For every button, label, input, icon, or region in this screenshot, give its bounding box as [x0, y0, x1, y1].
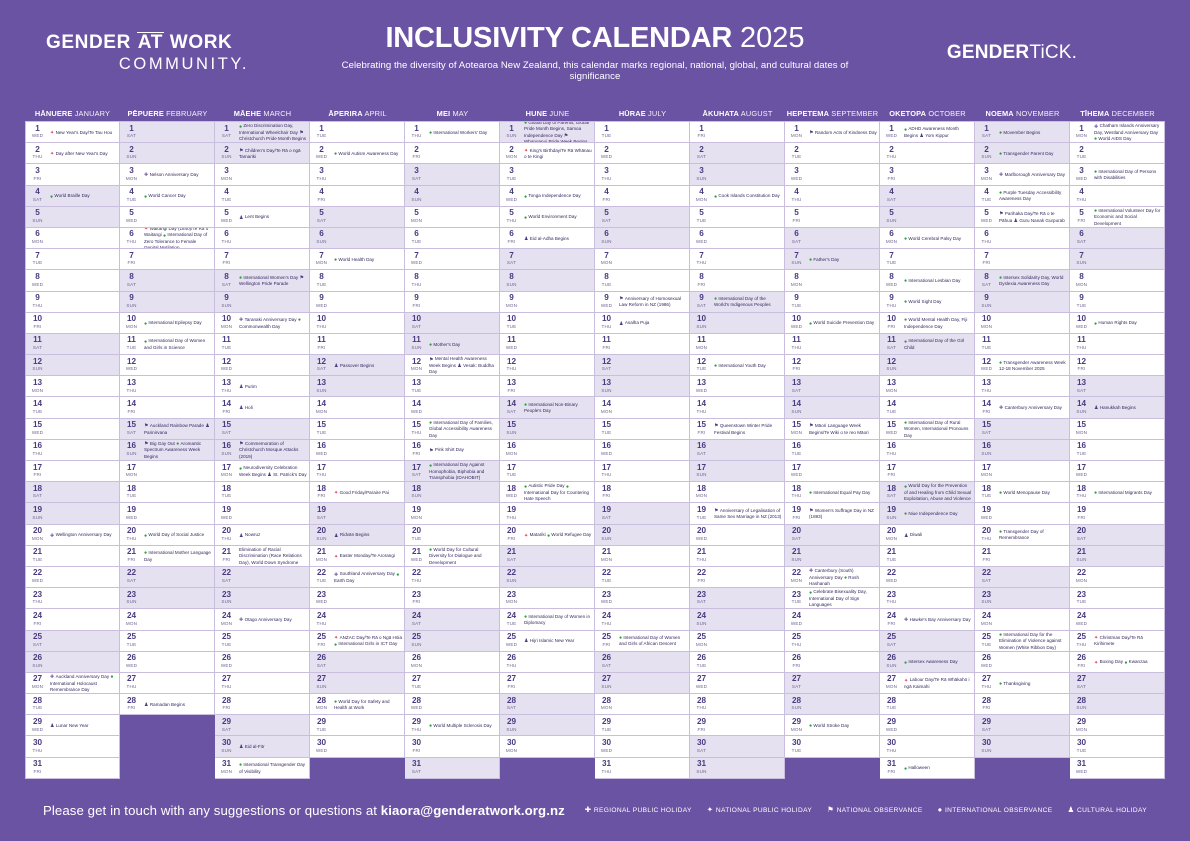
day-cell[interactable]: 22TUE	[595, 567, 690, 588]
day-cell[interactable]: 24WED	[785, 609, 880, 630]
day-cell[interactable]: 26WED	[975, 652, 1070, 673]
day-cell[interactable]: 9THU●World Sight Day	[880, 292, 975, 313]
day-cell[interactable]: 22SAT	[120, 567, 215, 588]
day-cell[interactable]: 6MON	[25, 228, 120, 249]
day-cell[interactable]: 18THU●International Migrants Day	[1070, 482, 1165, 503]
day-cell[interactable]: 21SUN	[785, 546, 880, 567]
day-cell[interactable]: 11TUE	[975, 334, 1070, 355]
day-cell[interactable]: 11FRI	[595, 334, 690, 355]
day-cell[interactable]: 17MON	[975, 461, 1070, 482]
day-cell[interactable]: 17WED	[1070, 461, 1165, 482]
day-cell[interactable]: 13MON	[25, 376, 120, 397]
day-cell[interactable]: 10FRI●World Mental Health Day, Fiji Inde…	[880, 313, 975, 334]
day-cell[interactable]: 1SAT●Zero Discrimination Day, Internatio…	[215, 121, 310, 143]
day-cell[interactable]: 8SAT●Intersex Solidarity Day, World Dysl…	[975, 270, 1070, 291]
day-cell[interactable]: 1SUN●Global Day of Parents, Global Pride…	[500, 121, 595, 143]
day-cell[interactable]: 3THU	[595, 164, 690, 185]
day-cell[interactable]: 28MON	[595, 694, 690, 715]
day-cell[interactable]: 10MON✚Taranaki Anniversary Day ●Commonwe…	[215, 313, 310, 334]
day-cell[interactable]: 6SAT	[1070, 228, 1165, 249]
day-cell[interactable]: 10SUN	[690, 313, 785, 334]
day-cell[interactable]: 20THU●Transgender Day of Remembrance	[975, 525, 1070, 546]
day-cell[interactable]: 6SUN	[595, 228, 690, 249]
day-cell[interactable]: 2THU✦Day after New Year's Day	[25, 143, 120, 164]
day-cell[interactable]: 26FRI	[785, 652, 880, 673]
day-cell[interactable]: 24THU	[310, 609, 405, 630]
day-cell[interactable]: 2SAT	[690, 143, 785, 164]
day-cell[interactable]: 23WED	[310, 588, 405, 609]
day-cell[interactable]: 9THU	[25, 292, 120, 313]
day-cell[interactable]: 13TUE	[405, 376, 500, 397]
day-cell[interactable]: 16WED	[595, 440, 690, 461]
day-cell[interactable]: 9WED	[310, 292, 405, 313]
day-cell[interactable]: 29MON	[1070, 715, 1165, 736]
day-cell[interactable]: 24SUN	[690, 609, 785, 630]
day-cell[interactable]: 17MON●Neurodiversity Celebration Week Be…	[215, 461, 310, 482]
day-cell[interactable]: 6THU	[975, 228, 1070, 249]
day-cell[interactable]: 14FRI♟Holi	[215, 397, 310, 418]
day-cell[interactable]: 22SAT	[975, 567, 1070, 588]
day-cell[interactable]: 29MON●World Stroke Day	[785, 715, 880, 736]
day-cell[interactable]: 12WED	[215, 355, 310, 376]
day-cell[interactable]: 22TUE✚Southland Anniversary Day ●Earth D…	[310, 567, 405, 588]
day-cell[interactable]: 26TUE	[690, 652, 785, 673]
day-cell[interactable]: 30FRI	[405, 736, 500, 757]
day-cell[interactable]: 21THU	[690, 546, 785, 567]
day-cell[interactable]: 17FRI	[880, 461, 975, 482]
day-cell[interactable]: 27THU●Thanksgiving	[975, 673, 1070, 694]
day-cell[interactable]: 4THU	[1070, 186, 1165, 207]
day-cell[interactable]: 24SAT	[405, 609, 500, 630]
day-cell[interactable]: 27TUE	[405, 673, 500, 694]
day-cell[interactable]: 9TUE	[785, 292, 880, 313]
day-cell[interactable]: 30TUE	[785, 736, 880, 757]
day-cell[interactable]: 15SAT	[975, 419, 1070, 440]
day-cell[interactable]: 25SAT	[25, 631, 120, 652]
day-cell[interactable]: 9MON	[500, 292, 595, 313]
day-cell[interactable]: 22SUN	[500, 567, 595, 588]
day-cell[interactable]: 5SUN	[880, 207, 975, 228]
day-cell[interactable]: 4WED●Tonga Independence Day	[500, 186, 595, 207]
day-cell[interactable]: 16MON	[500, 440, 595, 461]
day-cell[interactable]: 23THU	[880, 588, 975, 609]
day-cell[interactable]: 19SUN●Niue Independence Day	[880, 503, 975, 524]
day-cell[interactable]: 5WED⚑Parihaka Day/Te Rā o te Pāhua ♟Guru…	[975, 207, 1070, 228]
day-cell[interactable]: 4SAT	[880, 186, 975, 207]
day-cell[interactable]: 30SUN	[975, 736, 1070, 757]
day-cell[interactable]: 8WED●International Lesbian Day	[880, 270, 975, 291]
day-cell[interactable]: 19SAT	[595, 503, 690, 524]
day-cell[interactable]: 25TUE	[120, 631, 215, 652]
day-cell[interactable]: 29WED	[880, 715, 975, 736]
day-cell[interactable]: 7MON	[595, 249, 690, 270]
day-cell[interactable]: 29WED♟Lunar New Year	[25, 715, 120, 736]
day-cell[interactable]: 27THU	[120, 673, 215, 694]
day-cell[interactable]: 10WED●World Suicide Prevention Day	[785, 313, 880, 334]
day-cell[interactable]: 31SUN	[690, 758, 785, 779]
day-cell[interactable]: 8MON	[785, 270, 880, 291]
day-cell[interactable]: 5SUN	[25, 207, 120, 228]
day-cell[interactable]: 13THU♟Purim	[215, 376, 310, 397]
day-cell[interactable]: 10THU	[310, 313, 405, 334]
day-cell[interactable]: 16SUN	[975, 440, 1070, 461]
day-cell[interactable]: 30MON	[500, 736, 595, 757]
day-cell[interactable]: 16WED	[310, 440, 405, 461]
day-cell[interactable]: 15SAT⚑Auckland Rainbow Parade ♟Parinirva…	[120, 419, 215, 440]
day-cell[interactable]: 7FRI	[975, 249, 1070, 270]
day-cell[interactable]: 1MON✚Chatham Islands Anniversary Day, We…	[1070, 121, 1165, 143]
day-cell[interactable]: 29SUN	[500, 715, 595, 736]
day-cell[interactable]: 27SUN	[595, 673, 690, 694]
day-cell[interactable]: 14SUN♟Hanukkah Begins	[1070, 397, 1165, 418]
day-cell[interactable]: 23SAT	[690, 588, 785, 609]
day-cell[interactable]: 8TUE	[310, 270, 405, 291]
day-cell[interactable]: 4SAT●World Braille Day	[25, 186, 120, 207]
day-cell[interactable]: 18TUE●World Menopause Day	[975, 482, 1070, 503]
day-cell[interactable]: 8SAT●International Women's Day ⚑Wellingt…	[215, 270, 310, 291]
day-cell[interactable]: 12MON⚑Mental Health Awareness Week Begin…	[405, 355, 500, 376]
day-cell[interactable]: 27SAT	[1070, 673, 1165, 694]
day-cell[interactable]: 12WED	[120, 355, 215, 376]
day-cell[interactable]: 18SAT	[25, 482, 120, 503]
day-cell[interactable]: 17SAT●International Day Against Homophob…	[405, 461, 500, 482]
day-cell[interactable]: 21FRI●International Day for the Eliminat…	[215, 546, 310, 567]
day-cell[interactable]: 20THU●World Day of Social Justice	[120, 525, 215, 546]
day-cell[interactable]: 24FRI	[25, 609, 120, 630]
day-cell[interactable]: 17FRI	[25, 461, 120, 482]
day-cell[interactable]: 9SUN	[215, 292, 310, 313]
day-cell[interactable]: 23SUN	[215, 588, 310, 609]
day-cell[interactable]: 2TUE	[1070, 143, 1165, 164]
day-cell[interactable]: 4SUN	[405, 186, 500, 207]
day-cell[interactable]: 23TUE●Celebrate Bisexuality Day, Interna…	[785, 588, 880, 609]
day-cell[interactable]: 17WED	[785, 461, 880, 482]
day-cell[interactable]: 23SUN	[975, 588, 1070, 609]
day-cell[interactable]: 31MON●International Transgender Day of V…	[215, 758, 310, 779]
day-cell[interactable]: 6THU✦Waitangi Day (1840)/Te Rā o Waitang…	[120, 228, 215, 249]
day-cell[interactable]: 5SAT	[310, 207, 405, 228]
day-cell[interactable]: 26WED	[120, 652, 215, 673]
day-cell[interactable]: 4TUE●Purple Tuesday Accessibility Awaren…	[975, 186, 1070, 207]
day-cell[interactable]: 10WED●Human Rights Day	[1070, 313, 1165, 334]
day-cell[interactable]: 29FRI	[690, 715, 785, 736]
day-cell[interactable]: 1SAT●Movember Begins	[975, 121, 1070, 143]
day-cell[interactable]: 3WED	[785, 164, 880, 185]
day-cell[interactable]: 5FRI	[785, 207, 880, 228]
day-cell[interactable]: 13FRI	[500, 376, 595, 397]
day-cell[interactable]: 10MON●International Epilepsy Day	[120, 313, 215, 334]
day-cell[interactable]: 2TUE	[785, 143, 880, 164]
day-cell[interactable]: 8THU	[405, 270, 500, 291]
day-cell[interactable]: 21MON✦Easter Monday/Te Arorangi	[310, 546, 405, 567]
day-cell[interactable]: 27MON✚Auckland Anniversary Day ●Internat…	[25, 673, 120, 694]
day-cell[interactable]: 12SAT	[595, 355, 690, 376]
day-cell[interactable]: 9TUE	[1070, 292, 1165, 313]
day-cell[interactable]: 19SAT	[310, 503, 405, 524]
day-cell[interactable]: 28THU	[690, 694, 785, 715]
day-cell[interactable]: 7WED	[405, 249, 500, 270]
day-cell[interactable]: 30SAT	[690, 736, 785, 757]
day-cell[interactable]: 22SAT	[215, 567, 310, 588]
day-cell[interactable]: 19FRI	[1070, 503, 1165, 524]
day-cell[interactable]: 9WED⚑Anniversary of Homosexual Law Refor…	[595, 292, 690, 313]
day-cell[interactable]: 26MON	[405, 652, 500, 673]
day-cell[interactable]: 13SAT	[785, 376, 880, 397]
day-cell[interactable]: 28FRI	[215, 694, 310, 715]
day-cell[interactable]: 31FRI	[25, 758, 120, 779]
day-cell[interactable]: 28MON●World Day for Safety and Health at…	[310, 694, 405, 715]
day-cell[interactable]: 13SUN	[310, 376, 405, 397]
day-cell[interactable]: 19WED	[975, 503, 1070, 524]
day-cell[interactable]: 23MON	[500, 588, 595, 609]
day-cell[interactable]: 5WED	[120, 207, 215, 228]
day-cell[interactable]: 1TUE	[595, 121, 690, 143]
day-cell[interactable]: 2WED●World Autism Awareness Day	[310, 143, 405, 164]
day-cell[interactable]: 7SAT	[500, 249, 595, 270]
day-cell[interactable]: 14SUN	[785, 397, 880, 418]
day-cell[interactable]: 15FRI⚑Queenstown Winter Pride Festival B…	[690, 419, 785, 440]
day-cell[interactable]: 29TUE	[595, 715, 690, 736]
day-cell[interactable]: 12SUN	[25, 355, 120, 376]
day-cell[interactable]: 14WED	[405, 397, 500, 418]
day-cell[interactable]: 10MON	[975, 313, 1070, 334]
day-cell[interactable]: 28WED	[405, 694, 500, 715]
day-cell[interactable]: 17THU	[310, 461, 405, 482]
day-cell[interactable]: 3SAT	[405, 164, 500, 185]
day-cell[interactable]: 27WED	[690, 673, 785, 694]
day-cell[interactable]: 12THU	[500, 355, 595, 376]
day-cell[interactable]: 5WED♟Lent Begins	[215, 207, 310, 228]
day-cell[interactable]: 11MON	[690, 334, 785, 355]
day-cell[interactable]: 11TUE●International Day of Women and Gir…	[120, 334, 215, 355]
day-cell[interactable]: 4FRI	[595, 186, 690, 207]
day-cell[interactable]: 19THU	[500, 503, 595, 524]
day-cell[interactable]: 21MON	[595, 546, 690, 567]
day-cell[interactable]: 29SAT	[215, 715, 310, 736]
day-cell[interactable]: 20SAT	[785, 525, 880, 546]
day-cell[interactable]: 13MON	[880, 376, 975, 397]
day-cell[interactable]: 6SUN	[310, 228, 405, 249]
day-cell[interactable]: 8SAT	[120, 270, 215, 291]
day-cell[interactable]: 4TUE	[215, 186, 310, 207]
day-cell[interactable]: 9SUN	[120, 292, 215, 313]
day-cell[interactable]: 7SUN●Father's Day	[785, 249, 880, 270]
day-cell[interactable]: 11SUN●Mother's Day	[405, 334, 500, 355]
day-cell[interactable]: 25THU	[785, 631, 880, 652]
day-cell[interactable]: 2SUN	[120, 143, 215, 164]
day-cell[interactable]: 1THU●International Workers' Day	[405, 121, 500, 143]
day-cell[interactable]: 23TUE	[1070, 588, 1165, 609]
day-cell[interactable]: 25WED♟Hijri Islamic New Year	[500, 631, 595, 652]
day-cell[interactable]: 25TUE●International Day for the Eliminat…	[975, 631, 1070, 652]
day-cell[interactable]: 20MON✚Wellington Anniversary Day	[25, 525, 120, 546]
day-cell[interactable]: 12TUE●International Youth Day	[690, 355, 785, 376]
day-cell[interactable]: 14TUE	[880, 397, 975, 418]
day-cell[interactable]: 22WED	[25, 567, 120, 588]
day-cell[interactable]: 21WED●World Day for Cultural Diversity f…	[405, 546, 500, 567]
day-cell[interactable]: 3THU	[310, 164, 405, 185]
day-cell[interactable]: 20WED	[690, 525, 785, 546]
day-cell[interactable]: 14FRI✚Canterbury Anniversary Day	[975, 397, 1070, 418]
day-cell[interactable]: 20SAT	[1070, 525, 1165, 546]
day-cell[interactable]: 10TUE	[500, 313, 595, 334]
day-cell[interactable]: 27THU	[215, 673, 310, 694]
day-cell[interactable]: 27MON✦Labour Day/Te Rā Whākahō i ngā Kai…	[880, 673, 975, 694]
day-cell[interactable]: 20SUN	[595, 525, 690, 546]
day-cell[interactable]: 9SAT●International Day of the World's In…	[690, 292, 785, 313]
day-cell[interactable]: 28TUE	[25, 694, 120, 715]
day-cell[interactable]: 14TUE	[25, 397, 120, 418]
day-cell[interactable]: 4FRI	[310, 186, 405, 207]
day-cell[interactable]: 5SAT	[595, 207, 690, 228]
day-cell[interactable]: 14MON	[595, 397, 690, 418]
day-cell[interactable]: 3WED●International Day of Persons with D…	[1070, 164, 1165, 185]
day-cell[interactable]: 16FRI⚑Pink Shirt Day	[405, 440, 500, 461]
day-cell[interactable]: 24MON✚Otago Anniversary Day	[215, 609, 310, 630]
day-cell[interactable]: 19WED	[120, 503, 215, 524]
day-cell[interactable]: 6WED	[690, 228, 785, 249]
day-cell[interactable]: 25FRI✦ANZAC Day/Te Rā o Ngā Hōia ●Intern…	[310, 631, 405, 652]
day-cell[interactable]: 22MON✚Canterbury (South) Anniversary Day…	[785, 567, 880, 588]
day-cell[interactable]: 3TUE	[500, 164, 595, 185]
day-cell[interactable]: 22FRI	[690, 567, 785, 588]
day-cell[interactable]: 2SUN⚑Children's Day/Te Rā o ngā Tamariki	[215, 143, 310, 164]
day-cell[interactable]: 4TUE●World Cancer Day	[120, 186, 215, 207]
day-cell[interactable]: 5TUE	[690, 207, 785, 228]
day-cell[interactable]: 18FRI	[595, 482, 690, 503]
day-cell[interactable]: 16SUN⚑Big Gay Out ●Aromantic Spectrum Aw…	[120, 440, 215, 461]
day-cell[interactable]: 7TUE	[880, 249, 975, 270]
day-cell[interactable]: 28SUN	[785, 694, 880, 715]
day-cell[interactable]: 15TUE	[595, 419, 690, 440]
day-cell[interactable]: 11SAT	[25, 334, 120, 355]
day-cell[interactable]: 4MON●Cook Islands Constitution Day	[690, 186, 785, 207]
day-cell[interactable]: 13SUN	[595, 376, 690, 397]
day-cell[interactable]: 6SAT	[785, 228, 880, 249]
day-cell[interactable]: 24WED	[1070, 609, 1165, 630]
day-cell[interactable]: 21TUE	[880, 546, 975, 567]
day-cell[interactable]: 31SAT	[405, 758, 500, 779]
day-cell[interactable]: 24MON	[120, 609, 215, 630]
day-cell[interactable]: 5MON	[405, 207, 500, 228]
day-cell[interactable]: 6TUE	[405, 228, 500, 249]
day-cell[interactable]: 5THU●World Environment Day	[500, 207, 595, 228]
day-cell[interactable]: 23SUN	[120, 588, 215, 609]
day-cell[interactable]: 15MON	[1070, 419, 1165, 440]
day-cell[interactable]: 11THU	[1070, 334, 1165, 355]
day-cell[interactable]: 30THU	[25, 736, 120, 757]
day-cell[interactable]: 18SUN	[405, 482, 500, 503]
day-cell[interactable]: 15WED	[25, 419, 120, 440]
day-cell[interactable]: 7SUN	[1070, 249, 1165, 270]
day-cell[interactable]: 16SUN⚑Commemoration of Christchurch Mosq…	[215, 440, 310, 461]
day-cell[interactable]: 15MON⚑Māori Language Week Begins/Te Wiki…	[785, 419, 880, 440]
day-cell[interactable]: 27FRI	[500, 673, 595, 694]
day-cell[interactable]: 26THU	[500, 652, 595, 673]
day-cell[interactable]: 17MON	[120, 461, 215, 482]
day-cell[interactable]: 3MON✚Nelson Anniversary Day	[120, 164, 215, 185]
day-cell[interactable]: 23THU	[25, 588, 120, 609]
day-cell[interactable]: 25FRI●International Day of Women and Gir…	[595, 631, 690, 652]
day-cell[interactable]: 16TUE	[785, 440, 880, 461]
day-cell[interactable]: 29THU●World Multiple Sclerosis Day	[405, 715, 500, 736]
day-cell[interactable]: 15SUN	[500, 419, 595, 440]
day-cell[interactable]: 4THU	[785, 186, 880, 207]
day-cell[interactable]: 19FRI⚑Women's Suffrage Day in NZ (1893)	[785, 503, 880, 524]
day-cell[interactable]: 28TUE	[880, 694, 975, 715]
day-cell[interactable]: 24FRI✚Hawke's Bay Anniversary Day	[880, 609, 975, 630]
day-cell[interactable]: 23FRI	[405, 588, 500, 609]
day-cell[interactable]: 13THU	[120, 376, 215, 397]
day-cell[interactable]: 26WED	[215, 652, 310, 673]
day-cell[interactable]: 21SUN	[1070, 546, 1165, 567]
day-cell[interactable]: 23WED	[595, 588, 690, 609]
day-cell[interactable]: 1FRI	[690, 121, 785, 143]
day-cell[interactable]: 10SAT	[405, 313, 500, 334]
day-cell[interactable]: 1TUE	[310, 121, 405, 143]
day-cell[interactable]: 20THU♟Nowruz	[215, 525, 310, 546]
day-cell[interactable]: 1SAT	[120, 121, 215, 143]
day-cell[interactable]: 8MON	[1070, 270, 1165, 291]
day-cell[interactable]: 8FRI	[690, 270, 785, 291]
day-cell[interactable]: 2MON✦King's Birthday/Te Rā Whānau o te K…	[500, 143, 595, 164]
day-cell[interactable]: 22WED	[880, 567, 975, 588]
day-cell[interactable]: 22MON	[1070, 567, 1165, 588]
day-cell[interactable]: 13THU	[975, 376, 1070, 397]
day-cell[interactable]: 18WED●Autistic Pride Day ●International …	[500, 482, 595, 503]
day-cell[interactable]: 11SAT●International Day of the Girl Chil…	[880, 334, 975, 355]
day-cell[interactable]: 6FRI♟Eid al-Adha Begins	[500, 228, 595, 249]
day-cell[interactable]: 8WED	[25, 270, 120, 291]
day-cell[interactable]: 25SAT	[880, 631, 975, 652]
day-cell[interactable]: 11THU	[785, 334, 880, 355]
day-cell[interactable]: 26SUN	[25, 652, 120, 673]
day-cell[interactable]: 10THU♟Asalha Puja	[595, 313, 690, 334]
day-cell[interactable]: 28SUN	[1070, 694, 1165, 715]
day-cell[interactable]: 20TUE	[405, 525, 500, 546]
day-cell[interactable]: 3FRI	[25, 164, 120, 185]
day-cell[interactable]: 30THU	[880, 736, 975, 757]
day-cell[interactable]: 8SUN	[500, 270, 595, 291]
day-cell[interactable]: 2THU	[880, 143, 975, 164]
day-cell[interactable]: 6MON●World Cerebral Palsy Day	[880, 228, 975, 249]
day-cell[interactable]: 21SAT	[500, 546, 595, 567]
day-cell[interactable]: 11WED	[500, 334, 595, 355]
day-cell[interactable]: 30TUE	[1070, 736, 1165, 757]
contact-email-link[interactable]: kiaora@genderatwork.org.nz	[381, 803, 565, 818]
day-cell[interactable]: 28FRI	[975, 694, 1070, 715]
day-cell[interactable]: 24THU	[595, 609, 690, 630]
day-cell[interactable]: 24MON	[975, 609, 1070, 630]
day-cell[interactable]: 19WED	[215, 503, 310, 524]
day-cell[interactable]: 14THU	[690, 397, 785, 418]
day-cell[interactable]: 30WED	[595, 736, 690, 757]
day-cell[interactable]: 10FRI	[25, 313, 120, 334]
day-cell[interactable]: 20MON♟Diwali	[880, 525, 975, 546]
day-cell[interactable]: 16SAT	[690, 440, 785, 461]
day-cell[interactable]: 3MON✚Marlborough Anniversary Day	[975, 164, 1070, 185]
day-cell[interactable]: 3SUN	[690, 164, 785, 185]
day-cell[interactable]: 18THU●International Equal Pay Day	[785, 482, 880, 503]
day-cell[interactable]: 14FRI	[120, 397, 215, 418]
day-cell[interactable]: 29SAT	[975, 715, 1070, 736]
day-cell[interactable]: 21TUE	[25, 546, 120, 567]
day-cell[interactable]: 26FRI✦Boxing Day ●Kwanzaa	[1070, 652, 1165, 673]
day-cell[interactable]: 2WED	[595, 143, 690, 164]
day-cell[interactable]: 21FRI●International Mother Language Day	[120, 546, 215, 567]
day-cell[interactable]: 19MON	[405, 503, 500, 524]
day-cell[interactable]: 22THU	[405, 567, 500, 588]
